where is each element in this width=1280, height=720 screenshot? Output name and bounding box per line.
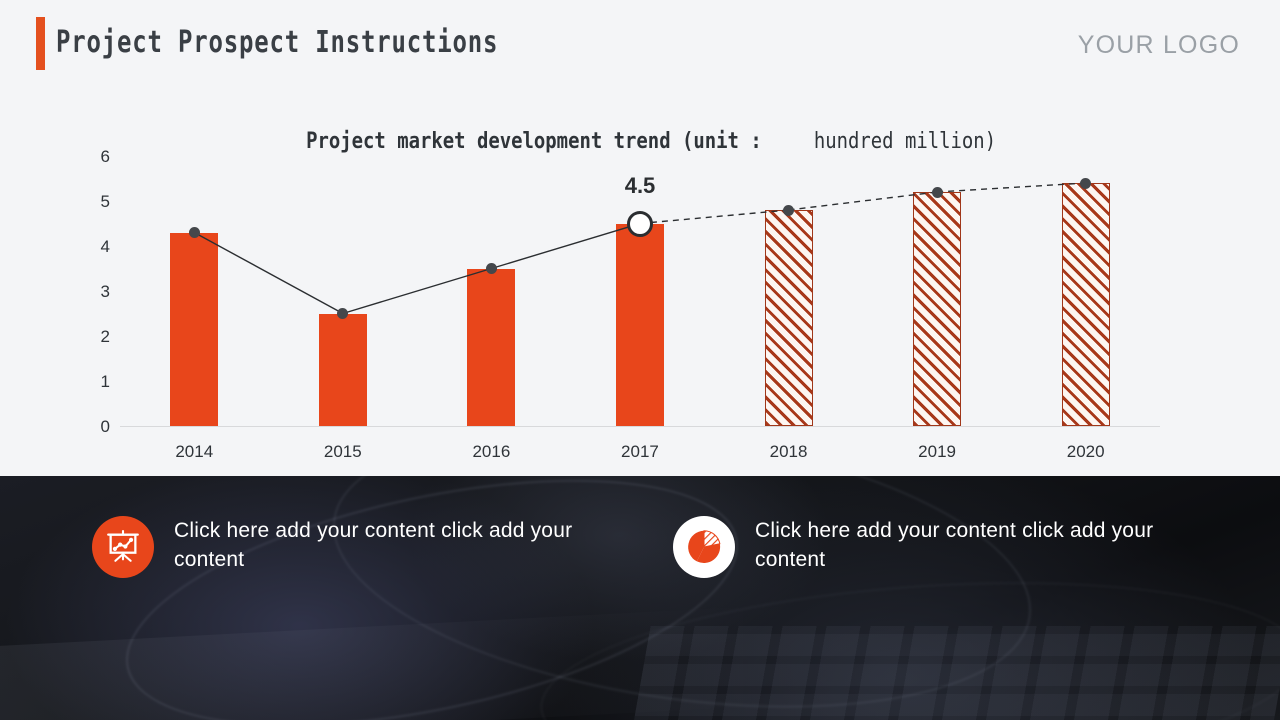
plot-area: 2014201520162017201820192020 4.5 (120, 95, 1160, 476)
slide-header: Project Prospect Instructions YOUR LOGO (0, 0, 1280, 95)
y-axis-labels: 6543210 (76, 95, 110, 476)
data-point-2020[interactable] (1080, 178, 1091, 189)
bar-slot (863, 136, 1012, 426)
bar-2018[interactable] (765, 210, 813, 426)
data-point-2016[interactable] (486, 263, 497, 274)
bar-2017[interactable] (616, 224, 664, 427)
data-point-2014[interactable] (189, 227, 200, 238)
pie-chart-icon (673, 516, 735, 578)
footer-block-1[interactable]: Click here add your content click add yo… (92, 516, 604, 578)
x-axis-tick-2015: 2015 (269, 442, 418, 462)
footer-block-1-text: Click here add your content click add yo… (174, 516, 604, 574)
y-axis-tick: 0 (101, 418, 110, 435)
x-axis-tick-2016: 2016 (417, 442, 566, 462)
footer-band: Click here add your content click add yo… (0, 476, 1280, 720)
bar-slot (714, 136, 863, 426)
y-axis-tick: 5 (101, 193, 110, 210)
chart-region: Project market development trend (unit :… (0, 95, 1280, 476)
x-axis-labels: 2014201520162017201820192020 (120, 436, 1160, 462)
bar-slot (269, 136, 418, 426)
y-axis-tick: 6 (101, 148, 110, 165)
logo-placeholder: YOUR LOGO (1078, 31, 1240, 60)
footer-block-2-text: Click here add your content click add yo… (755, 516, 1185, 574)
x-axis-tick-2017: 2017 (566, 442, 715, 462)
bar-2019[interactable] (913, 192, 961, 426)
footer-block-2[interactable]: Click here add your content click add yo… (673, 516, 1185, 578)
presentation-chart-icon (92, 516, 154, 578)
y-axis-tick: 1 (101, 373, 110, 390)
background-keyboard (629, 626, 1280, 720)
data-point-2019[interactable] (932, 187, 943, 198)
bar-2020[interactable] (1062, 183, 1110, 426)
data-point-2017[interactable] (627, 211, 653, 237)
x-axis-line (120, 426, 1160, 427)
bar-2014[interactable] (170, 233, 218, 427)
title-accent-bar (36, 17, 45, 70)
y-axis-tick: 3 (101, 283, 110, 300)
x-axis-tick-2020: 2020 (1011, 442, 1160, 462)
page-title: Project Prospect Instructions (56, 25, 498, 60)
data-point-2018[interactable] (783, 205, 794, 216)
bar-slot (120, 136, 269, 426)
bar-slot (417, 136, 566, 426)
x-axis-tick-2019: 2019 (863, 442, 1012, 462)
highlight-value-label: 4.5 (625, 173, 656, 199)
bar-2015[interactable] (319, 314, 367, 427)
x-axis-tick-2014: 2014 (120, 442, 269, 462)
x-axis-tick-2018: 2018 (714, 442, 863, 462)
bar-2016[interactable] (467, 269, 515, 427)
y-axis-tick: 2 (101, 328, 110, 345)
y-axis-tick: 4 (101, 238, 110, 255)
